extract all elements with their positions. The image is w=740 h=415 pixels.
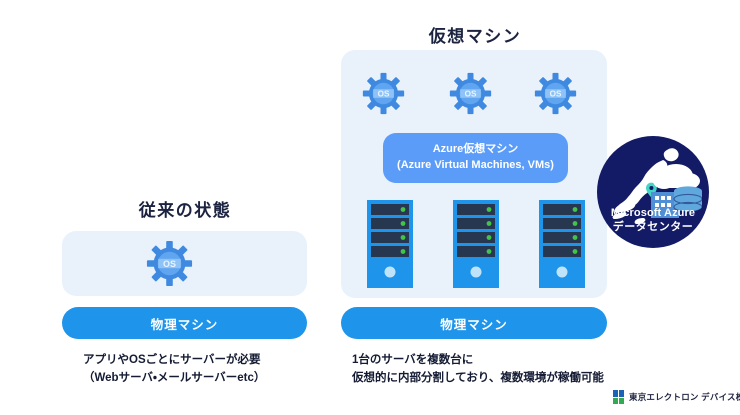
server-icon	[367, 200, 413, 288]
server-icon	[539, 200, 585, 288]
azure-datacenter-badge: Microsoft Azure データセンター	[597, 136, 709, 248]
footer-company-logo: 東京エレクトロン デバイス株式会社	[613, 390, 740, 404]
database-icon	[674, 186, 702, 211]
gear-os-icon: OS	[362, 72, 405, 115]
ted-logo-mark	[613, 390, 625, 404]
slide-canvas: 従来の状態 仮想マシン OS 物理マシン アプリやOSごとにサーバーが必要 （W…	[0, 0, 740, 415]
azure-vm-label-en: (Azure Virtual Machines, VMs)	[397, 158, 554, 174]
company-name: 東京エレクトロン デバイス株式会社	[629, 391, 740, 403]
azure-vm-label-ja: Azure仮想マシン	[433, 142, 519, 158]
gear-os-icon: OS	[146, 240, 193, 287]
virtual-machine-section-title: 仮想マシン	[340, 22, 610, 47]
gear-os-icon: OS	[534, 72, 577, 115]
svg-text:OS: OS	[378, 90, 390, 99]
svg-text:OS: OS	[550, 90, 562, 99]
azure-virtual-machine-pill: Azure仮想マシン (Azure Virtual Machines, VMs)	[383, 133, 568, 183]
virtual-physical-machine-pill: 物理マシン	[341, 307, 607, 339]
server-icon	[453, 200, 499, 288]
gear-os-icon: OS	[449, 72, 492, 115]
svg-text:OS: OS	[163, 259, 176, 269]
legacy-caption: アプリやOSごとにサーバーが必要 （Webサーバ・メールサーバーetc）	[83, 352, 343, 388]
legacy-section-title: 従来の状態	[60, 196, 310, 221]
legacy-physical-machine-pill: 物理マシン	[62, 307, 307, 339]
virtual-caption: 1台のサーバを複数台に 仮想的に内部分割しており、複数環境が稼働可能	[352, 352, 642, 388]
svg-text:OS: OS	[465, 90, 477, 99]
